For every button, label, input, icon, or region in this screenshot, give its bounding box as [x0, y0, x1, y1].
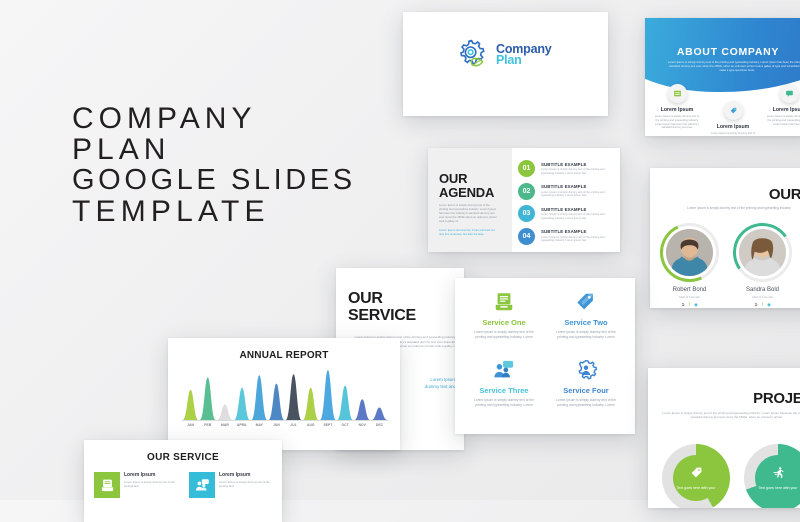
title-line-1: COMPANY [72, 103, 392, 134]
about-title: ABOUT COMPANY [645, 46, 800, 58]
team-members: Robert Bond CEO & Founder ➲ f ◉ [660, 223, 792, 307]
service-text-accent: Lorem Ipsum dummy text and [425, 376, 456, 390]
facebook-icon[interactable]: f [689, 302, 690, 307]
agenda-item-body: Lorem Ipsum is simply dummy text of the … [541, 236, 614, 243]
progress-donut[interactable]: Text goes here with your [744, 444, 800, 508]
avatar [660, 223, 719, 282]
member-role: CEO & Founder [660, 295, 719, 299]
list-item[interactable]: 04 SUBTITLE EXAMPLE Lorem Ipsum is simpl… [518, 228, 614, 245]
project-title: PROJEC [753, 390, 800, 407]
list-item[interactable]: Service Three Lorem Ipsum is simply dumm… [465, 358, 543, 422]
chart-x-label: APRIL [234, 423, 251, 427]
avatar-photo [739, 229, 786, 276]
gear-leaf-logo-icon [455, 38, 489, 72]
gear-person-icon [553, 358, 619, 382]
logo: Company Plan [455, 38, 552, 72]
slide-our-agenda[interactable]: OUR AGENDA Lorem Ipsum is simply dummy t… [428, 148, 620, 252]
slide-project[interactable]: PROJEC Lorem Ipsum is simply dummy text … [648, 368, 800, 508]
chart-axis [182, 420, 388, 421]
about-column: Lorem Ipsum Lorem Ipsum is simply dummy … [761, 84, 800, 136]
document-tray-icon [471, 290, 537, 314]
agenda-left-panel [428, 148, 512, 252]
service-title: Service Two [553, 318, 619, 327]
avatar [733, 223, 792, 282]
chat-icon [780, 84, 799, 103]
slide-annual-report[interactable]: ANNUAL REPORT JANFEBMARAPRILMAYJUNJULAUG… [168, 338, 400, 450]
about-body: Lorem Ipsum is simply dummy text of the … [761, 115, 800, 126]
list-item[interactable]: Lorem Ipsum Lorem Ipsum is simply dummy … [94, 472, 180, 498]
tags-icon [553, 290, 619, 314]
donut-text: Text goes here with your [677, 486, 716, 491]
list-item[interactable]: Robert Bond CEO & Founder ➲ f ◉ [660, 223, 719, 307]
chart-x-label: SEPT [319, 423, 336, 427]
member-name: Robert Bond [660, 287, 719, 293]
card-heading: Lorem Ipsum [219, 472, 275, 478]
instagram-icon[interactable]: ◉ [694, 302, 698, 307]
slide-about-company[interactable]: ABOUT COMPANY Lorem Ipsum is simply dumm… [645, 18, 800, 136]
agenda-title-line-2: AGENDA [439, 186, 494, 200]
agenda-item-heading: SUBTITLE EXAMPLE [541, 229, 614, 234]
showcase-stage: COMPANY PLAN GOOGLE SLIDES TEMPLATE Comp… [0, 0, 800, 500]
service2-title: OUR SERVICE [84, 452, 282, 463]
list-item[interactable]: 03 SUBTITLE EXAMPLE Lorem Ipsum is simpl… [518, 205, 614, 222]
about-columns: Lorem Ipsum Lorem Ipsum is simply dummy … [649, 84, 800, 136]
about-heading: Lorem Ipsum [761, 107, 800, 113]
chart-x-label: NOV [354, 423, 371, 427]
logo-line-2: Plan [496, 55, 552, 66]
agenda-title: OUR AGENDA [439, 172, 494, 200]
service-title: Service One [471, 318, 537, 327]
slide-services-grid[interactable]: Service One Lorem Ipsum is simply dummy … [455, 278, 635, 434]
agenda-rows: 01 SUBTITLE EXAMPLE Lorem Ipsum is simpl… [518, 160, 614, 250]
donut-text: Text goes here with your [759, 486, 798, 491]
agenda-number: 04 [518, 228, 535, 245]
team-title: OUR T [769, 186, 800, 203]
facebook-icon[interactable]: f [762, 302, 763, 307]
social-links[interactable]: ➲ f ◉ [733, 302, 792, 307]
bell-curves [182, 368, 388, 420]
slide-logo[interactable]: Company Plan [403, 12, 608, 116]
card-heading: Lorem Ipsum [124, 472, 180, 478]
agenda-item-heading: SUBTITLE EXAMPLE [541, 162, 614, 167]
team-chat-icon [189, 472, 215, 498]
service-body: Lorem Ipsum is simply dummy text of the … [553, 398, 619, 408]
chart-x-label: JAN [182, 423, 199, 427]
card-body: Lorem Ipsum is simply dummy text of the … [219, 480, 275, 488]
services-grid: Service One Lorem Ipsum is simply dummy … [465, 290, 625, 422]
service-body: Lorem Ipsum is simply dummy text of the … [553, 330, 619, 340]
list-item[interactable]: 01 SUBTITLE EXAMPLE Lorem Ipsum is simpl… [518, 160, 614, 177]
page-title: COMPANY PLAN GOOGLE SLIDES TEMPLATE [72, 103, 392, 227]
chart-x-label: FEB [199, 423, 216, 427]
list-item[interactable]: Service Two Lorem Ipsum is simply dummy … [547, 290, 625, 354]
agenda-title-line-1: OUR [439, 172, 494, 186]
accent-line-2: dummy text and [425, 383, 456, 390]
team-subtitle: Lorem Ipsum is simply dummy text of the … [660, 206, 800, 210]
chart-title: ANNUAL REPORT [168, 350, 400, 361]
about-heading: Lorem Ipsum [649, 107, 705, 113]
about-heading: Lorem Ipsum [705, 124, 761, 130]
agenda-number: 02 [518, 183, 535, 200]
member-name: Sandra Bold [733, 287, 792, 293]
list-item[interactable]: Lorem Ipsum Lorem Ipsum is simply dummy … [189, 472, 275, 498]
slide-our-service-cards[interactable]: OUR SERVICE Lorem Ipsum Lorem Ipsum is s… [84, 440, 282, 522]
about-column: Lorem Ipsum Lorem Ipsum is simply dummy … [705, 101, 761, 136]
chart-x-label: DEC [371, 423, 388, 427]
logo-text: Company Plan [496, 44, 552, 66]
chart-x-label: AUG [302, 423, 319, 427]
about-column: Lorem Ipsum Lorem Ipsum is simply dummy … [649, 84, 705, 136]
book-icon [668, 84, 687, 103]
service-title-line-2: SERVICE [348, 307, 416, 324]
agenda-item-heading: SUBTITLE EXAMPLE [541, 207, 614, 212]
agenda-link[interactable]: Lorem Ipsum text dummy. It has survived … [439, 228, 499, 236]
title-line-2: PLAN [72, 134, 392, 165]
title-line-3: GOOGLE SLIDES [72, 165, 392, 196]
list-item[interactable]: Service One Lorem Ipsum is simply dummy … [465, 290, 543, 354]
document-tray-icon [94, 472, 120, 498]
title-line-4: TEMPLATE [72, 196, 392, 227]
agenda-number: 03 [518, 205, 535, 222]
agenda-item-body: Lorem Ipsum is simply dummy text of the … [541, 213, 614, 220]
chart-x-label: MAY [251, 423, 268, 427]
twitter-icon[interactable]: ➲ [754, 302, 758, 307]
twitter-icon[interactable]: ➲ [681, 302, 685, 307]
avatar-photo [666, 229, 713, 276]
agenda-item-body: Lorem Ipsum is simply dummy text of the … [541, 168, 614, 175]
chart-x-labels: JANFEBMARAPRILMAYJUNJULAUGSEPTOCTNOVDEC [182, 423, 388, 427]
service-body: Lorem Ipsum is simply dummy text of the … [471, 330, 537, 340]
chart-plot [182, 368, 388, 420]
service-body: Lorem Ipsum is simply dummy text of the … [471, 398, 537, 408]
project-subtitle: Lorem Ipsum is simply dummy text of the … [660, 411, 800, 420]
about-body: Lorem Ipsum is simply dummy text of the … [649, 115, 705, 130]
instagram-icon[interactable]: ◉ [767, 302, 771, 307]
project-donuts: Text goes here with your Text goes here … [662, 444, 800, 508]
about-subtitle: Lorem Ipsum is simply dummy text of the … [667, 61, 800, 73]
social-links[interactable]: ➲ f ◉ [660, 302, 719, 307]
tag-icon [690, 466, 703, 484]
service-title-line-1: OUR [348, 290, 416, 307]
agenda-item-body: Lorem Ipsum is simply dummy text of the … [541, 191, 614, 198]
card-body: Lorem Ipsum is simply dummy text of the … [124, 480, 180, 488]
progress-donut[interactable]: Text goes here with your [662, 444, 730, 508]
member-role: CEO & Founder [733, 295, 792, 299]
list-item[interactable]: Sandra Bold CEO & Founder ➲ f ◉ [733, 223, 792, 307]
list-item[interactable]: Service Four Lorem Ipsum is simply dummy… [547, 358, 625, 422]
about-body: Lorem Ipsum is simply dummy text of the … [705, 132, 761, 136]
service-text-title: OUR SERVICE [348, 290, 416, 324]
service2-cards: Lorem Ipsum Lorem Ipsum is simply dummy … [94, 472, 275, 498]
agenda-body: Lorem Ipsum is simply dummy text of the … [439, 203, 499, 223]
service-title: Service Four [553, 386, 619, 395]
accent-line-1: Lorem Ipsum [425, 376, 456, 383]
service-title: Service Three [471, 386, 537, 395]
runner-icon [772, 466, 785, 484]
chart-x-label: MAR [216, 423, 233, 427]
chart-x-label: JUN [268, 423, 285, 427]
team-chat-icon [471, 358, 537, 382]
chart-x-label: JUL [285, 423, 302, 427]
tag-icon [724, 101, 743, 120]
list-item[interactable]: 02 SUBTITLE EXAMPLE Lorem Ipsum is simpl… [518, 183, 614, 200]
chart-x-label: OCT [337, 423, 354, 427]
agenda-item-heading: SUBTITLE EXAMPLE [541, 184, 614, 189]
agenda-number: 01 [518, 160, 535, 177]
slide-our-team[interactable]: OUR T Lorem Ipsum is simply dummy text o… [650, 168, 800, 308]
